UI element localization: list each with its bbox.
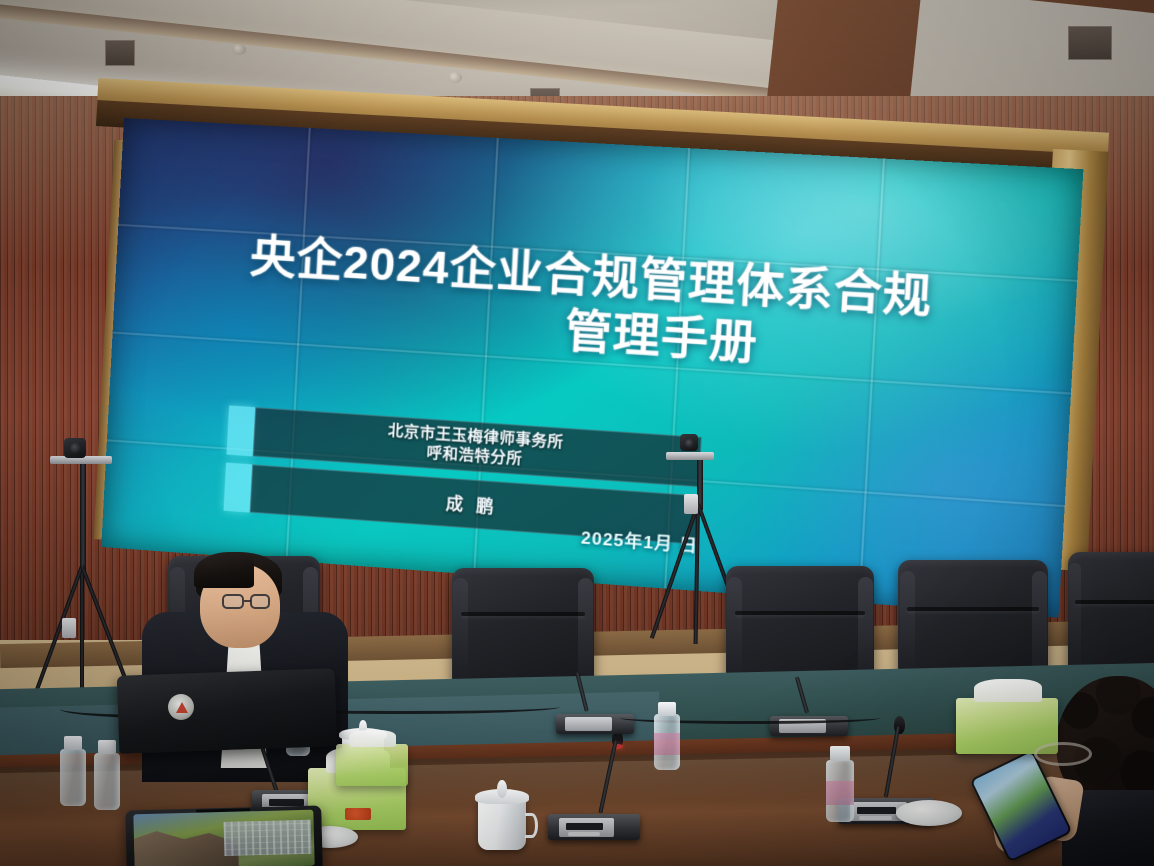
tissue-box-logo [345, 808, 370, 820]
mic-gooseneck [884, 726, 900, 798]
chair-crease [461, 612, 586, 616]
mic-gooseneck [795, 676, 809, 714]
ceiling-vent-1 [105, 40, 135, 66]
conference-microphone-5[interactable] [770, 680, 848, 736]
slide-title: 央企2024企业合规管理体系合规 管理手册 [113, 222, 1078, 392]
glasses-bridge [244, 600, 251, 602]
mic-display [566, 823, 603, 830]
teacup-knob [497, 780, 507, 798]
laptop-lid [117, 668, 338, 754]
bottle-cap [658, 702, 677, 716]
bottle-body [60, 749, 86, 806]
bottle-cap [830, 746, 850, 761]
bottle-body [94, 753, 120, 810]
teacup-body [478, 798, 526, 850]
mic-talk-button[interactable] [859, 816, 892, 820]
tripod-left [52, 462, 114, 724]
camera-center-lens [685, 439, 694, 448]
tripod-center-plate [666, 452, 714, 460]
coaster [1034, 742, 1092, 766]
tripod-center [672, 458, 728, 654]
laptop-wallpaper-cityscape [224, 820, 311, 856]
accent-tab-presenter [223, 463, 252, 513]
camera-left-lens [70, 443, 81, 454]
tissue-box-2 [336, 744, 408, 786]
chair-side-right [578, 578, 592, 686]
mic-gooseneck [575, 672, 589, 712]
bottle-cap [98, 740, 117, 754]
conference-microphone-4[interactable] [556, 676, 634, 734]
tripod-center-leg-center [694, 504, 700, 644]
conference-microphone-2[interactable] [548, 734, 640, 840]
laptop-back-closed[interactable] [117, 668, 338, 754]
bottle-label [826, 781, 854, 805]
water-bottle-2 [826, 746, 854, 822]
laptop-screen[interactable] [133, 810, 315, 866]
mic-display [269, 799, 303, 806]
water-bottle-4 [60, 736, 86, 806]
water-bottle-1 [654, 702, 680, 770]
mic-gooseneck [598, 740, 617, 813]
teacup-handle [525, 813, 537, 837]
tissue-box-body [336, 744, 408, 786]
laptop-front-open[interactable] [125, 805, 323, 866]
chair-crease [1075, 600, 1154, 604]
mic-control-face [565, 717, 612, 731]
tripod-left-column [80, 462, 86, 574]
mic-talk-button[interactable] [568, 832, 599, 836]
bottle-cap [64, 736, 83, 750]
ceiling-vent-3 [1068, 26, 1112, 60]
mic-display [857, 807, 895, 814]
accent-tab-firm [226, 405, 255, 456]
bottle-label [654, 733, 680, 755]
chair-crease [907, 607, 1039, 611]
tissue-sheet [974, 679, 1041, 703]
glasses-left-lens [222, 594, 244, 609]
chair-side-left [453, 578, 467, 686]
teacup-2 [478, 782, 526, 850]
tripod-left-battery-pack [62, 618, 76, 638]
conference-room-photo: 央企2024企业合规管理体系合规 管理手册 北京市王玉梅律师事务所 呼和浩特分所… [0, 0, 1154, 866]
tripod-center-battery-pack [684, 494, 698, 514]
glasses-right-lens [250, 594, 270, 609]
water-bottle-5 [94, 740, 120, 810]
ceiling-downlight-1 [232, 44, 246, 55]
saucer-1 [896, 800, 962, 826]
chair-crease [735, 611, 865, 615]
tissue-sheet [349, 730, 397, 748]
ceiling-downlight-2 [448, 72, 462, 83]
video-wall-display[interactable]: 央企2024企业合规管理体系合规 管理手册 北京市王玉梅律师事务所 呼和浩特分所… [101, 118, 1083, 618]
chair-side-left [727, 577, 742, 688]
